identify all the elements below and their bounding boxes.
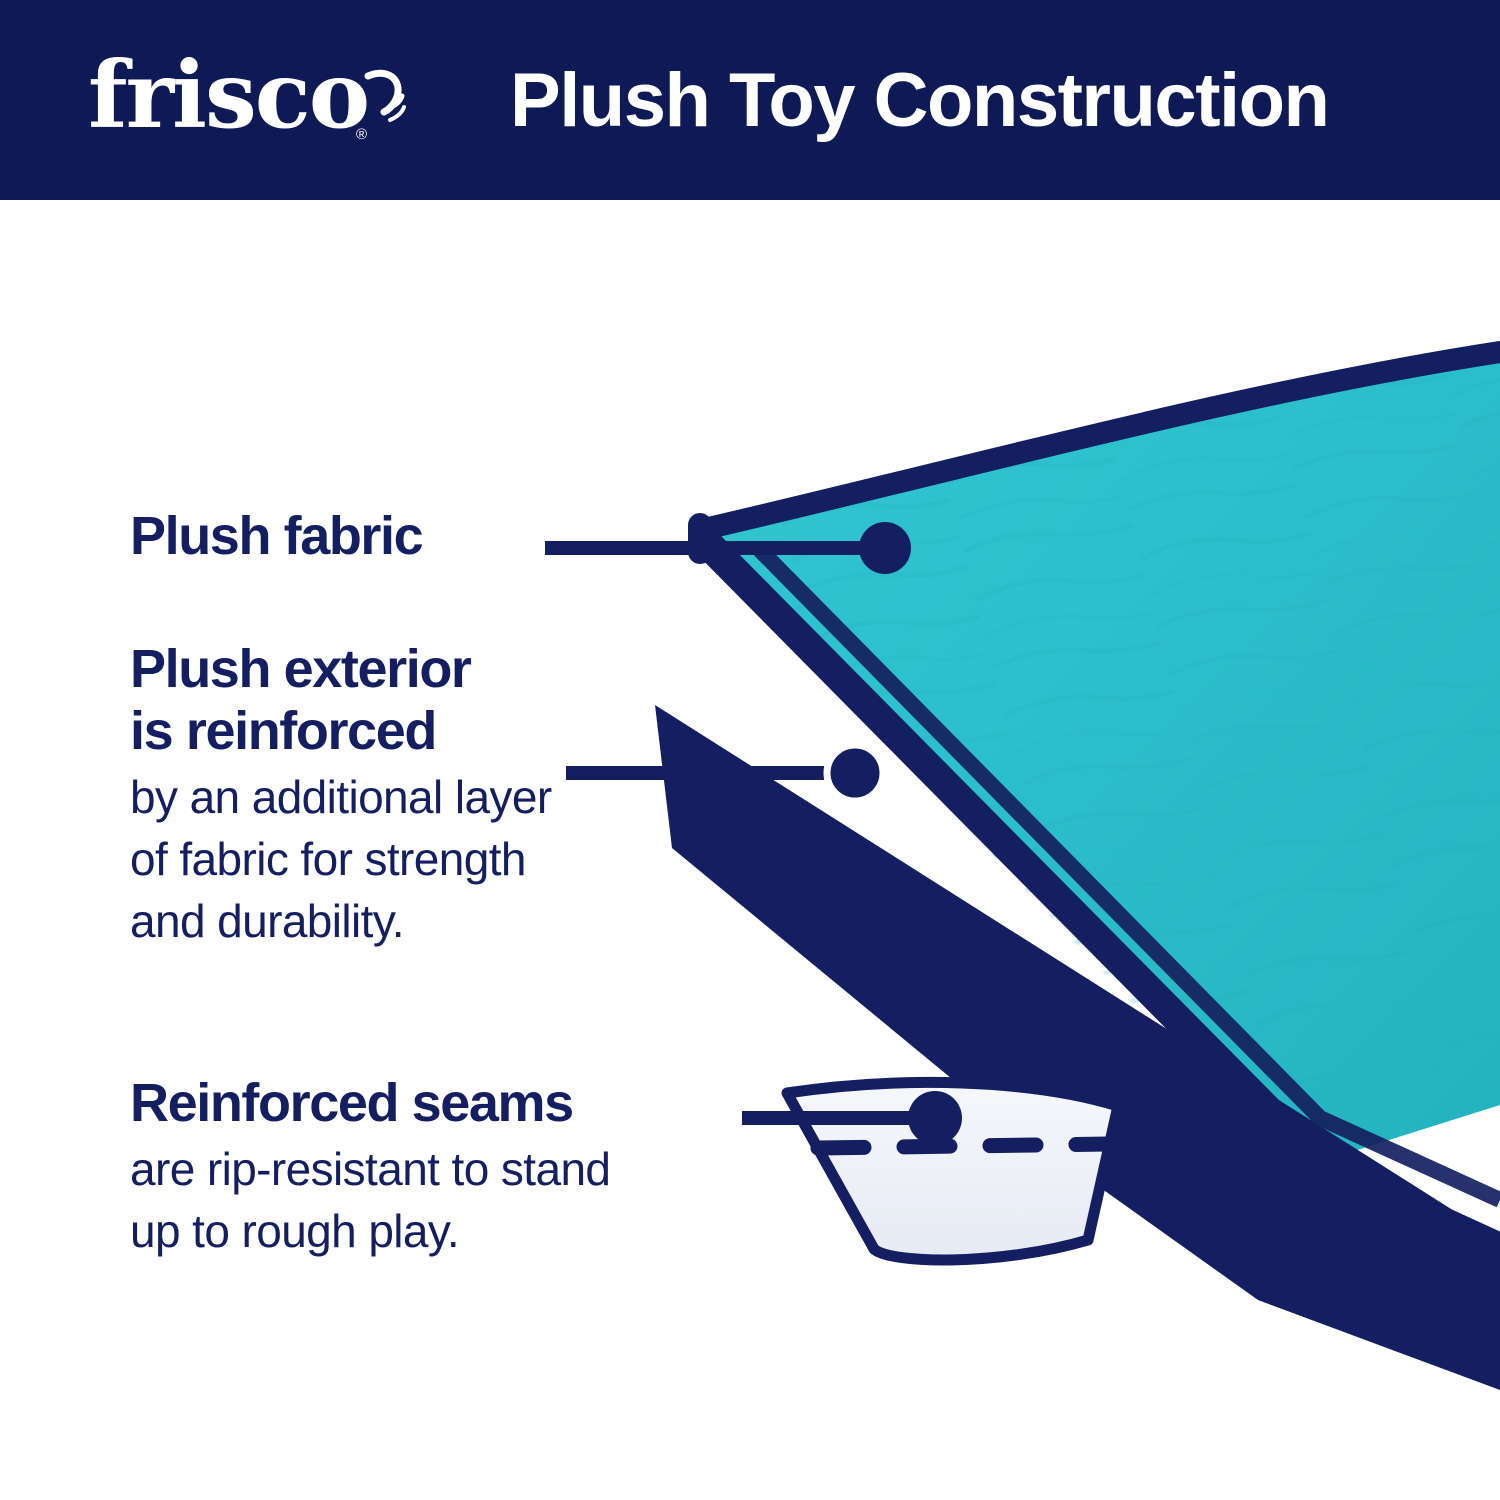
header-bar: frisco ® Plush Toy Construction <box>0 0 1500 200</box>
illustration-svg <box>0 200 1500 1500</box>
page-title: Plush Toy Construction <box>510 0 1328 200</box>
infographic-page: frisco ® Plush Toy Construction Plush fa… <box>0 0 1500 1500</box>
registered-trademark-mark: ® <box>356 126 367 143</box>
frisco-wordmark: frisco <box>88 40 388 150</box>
leader-dot-plush-exterior <box>827 745 883 801</box>
leader-dot-reinforced-seams <box>908 1091 962 1145</box>
leader-dot-plush-fabric <box>859 522 911 574</box>
frisco-logo: frisco ® <box>88 40 388 158</box>
plush-toy-cutaway-illustration <box>0 200 1500 1500</box>
